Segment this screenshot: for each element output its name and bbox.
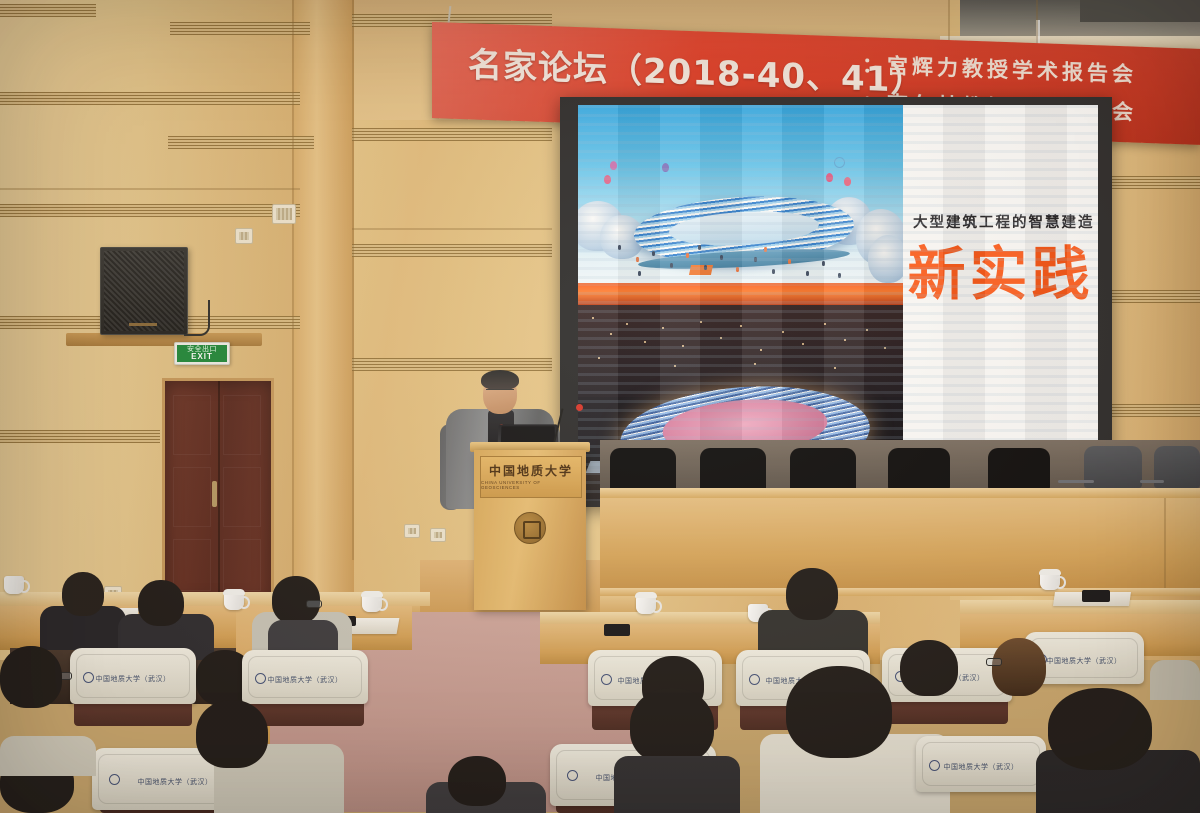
phone-icon (604, 624, 630, 636)
audience-head (630, 688, 714, 764)
wall-column (292, 0, 354, 650)
audience-head (786, 666, 892, 758)
wall-seam (352, 228, 552, 230)
glasses-icon (306, 600, 322, 608)
wall-slat (170, 22, 310, 35)
chair-cover: 中国地质大学（武汉） (242, 650, 368, 704)
balloon (844, 177, 851, 186)
orange-tent (689, 265, 713, 275)
desk-seam (1164, 498, 1166, 588)
wall-slat (0, 430, 160, 443)
lecture-hall-photo: 名家论坛（2018-40、41） ：宫辉力教授学术报告会 ：李久林教授学术报告会 (0, 0, 1200, 813)
lectern: 中国地质大学 CHINA UNIVERSITY OF GEOSCIENCES (474, 450, 586, 610)
dais-chair (790, 448, 856, 492)
audience-head (138, 580, 184, 626)
presenter-hair (481, 370, 519, 390)
mug-lid (635, 592, 657, 598)
slide-title: 大型建筑工程的智慧建造 (913, 211, 1088, 232)
dais-chair (988, 448, 1050, 490)
exit-icon: 安全出口 EXIT (174, 342, 230, 365)
power-outlet-icon (404, 524, 420, 538)
microphone-head (576, 404, 583, 411)
presenter-glasses (486, 389, 514, 396)
dais-chair (888, 448, 950, 490)
balloon (826, 173, 833, 182)
mug-lid (361, 591, 383, 597)
speaker-icon (100, 247, 188, 335)
audience-shoulders (0, 736, 96, 776)
balloon (604, 175, 611, 184)
slide-headline: 新实践 (903, 245, 1098, 303)
power-outlet-icon (235, 228, 253, 244)
audience-head (1048, 688, 1152, 770)
wall-slat (352, 244, 552, 257)
power-outlet-icon (272, 204, 296, 224)
chair-arm (1140, 480, 1164, 483)
ferris-wheel (834, 157, 845, 168)
mug-lid (223, 589, 245, 595)
wall-seam (352, 0, 354, 560)
chair-arm (1058, 480, 1094, 483)
audience-head (900, 640, 958, 696)
wall-slat (352, 358, 552, 371)
tea-mug-icon (4, 576, 24, 594)
winter-day-stadium-render (578, 105, 903, 283)
university-emblem-icon (514, 512, 546, 544)
chair-cover: 中国地质大学（武汉） (70, 648, 196, 704)
balloon (662, 163, 669, 172)
podium-name-en: CHINA UNIVERSITY OF GEOSCIENCES (481, 480, 581, 490)
mug-lid (1039, 569, 1061, 575)
dais-chair (700, 448, 766, 492)
hall-door[interactable] (162, 378, 274, 606)
audience-head (62, 572, 104, 616)
audience-head (786, 568, 838, 620)
balloon (610, 161, 617, 170)
audience-head (0, 646, 62, 708)
wall-slat (0, 4, 96, 17)
glasses-icon (986, 658, 1002, 666)
city-skyline (578, 305, 903, 397)
podium-name-cn: 中国地质大学 (489, 465, 573, 477)
chair-cover-text: 中国地质大学（武汉） (70, 674, 196, 684)
banner-title: 名家论坛（2018-40、41） (468, 37, 925, 102)
snow-tree (868, 235, 903, 283)
audience-head (448, 756, 506, 806)
chair-cover-text: 中国地质大学（武汉） (242, 675, 368, 685)
door-handle[interactable] (212, 481, 217, 507)
tea-mug-icon (636, 596, 656, 614)
podium-nameplate: 中国地质大学 CHINA UNIVERSITY OF GEOSCIENCES (480, 456, 582, 498)
speaker-cable (184, 300, 210, 336)
power-outlet-icon (430, 528, 446, 542)
wall-seam (0, 188, 300, 190)
wall-seam (292, 0, 294, 650)
chair-cover-text: 中国地质大学（武汉） (916, 762, 1046, 772)
audience-head (196, 700, 268, 768)
audience-shoulders (1150, 660, 1200, 700)
dais-chair (610, 448, 676, 492)
exit-label-en: EXIT (191, 353, 213, 361)
chair-cover: 中国地质大学（武汉） (916, 736, 1046, 792)
phone-icon (1082, 590, 1110, 602)
audience-head (992, 638, 1046, 696)
dais-desk (600, 498, 1200, 588)
ceiling-vent (1080, 0, 1200, 22)
wall-slat (0, 92, 300, 105)
dais-desk-edge (600, 488, 1200, 498)
wall-slat (0, 204, 300, 217)
wall-slat (352, 128, 552, 141)
audience-shoulders (614, 756, 740, 813)
